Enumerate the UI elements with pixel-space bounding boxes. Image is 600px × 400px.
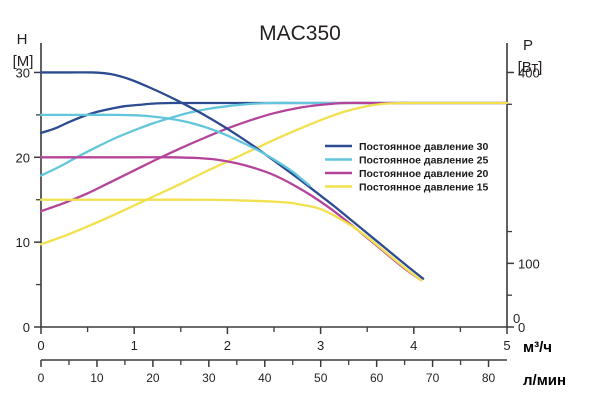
x-tick-label-secondary: 70 — [426, 371, 440, 385]
legend-label-3: Постоянное давление 15 — [359, 182, 489, 194]
y-tick-label-right: 400 — [518, 65, 540, 80]
curve-power-4 — [41, 103, 507, 133]
chart-root: MAC350 H [М] P [Вт] 01020300100400012345… — [0, 0, 600, 400]
legend-label-1: Постоянное давление 25 — [359, 155, 489, 167]
x-tick-label-primary: 2 — [224, 338, 231, 353]
x-tick-label-primary: 3 — [317, 338, 324, 353]
legend-label-2: Постоянное давление 20 — [359, 168, 489, 180]
y-tick-label-left: 30 — [16, 65, 30, 80]
x-tick-label-secondary: 50 — [314, 371, 328, 385]
x-axis-label-primary: м³/ч — [523, 339, 552, 356]
x-tick-label-primary: 0 — [37, 338, 44, 353]
chart-title: MAC350 — [259, 22, 341, 45]
curve-head-3 — [41, 200, 421, 281]
x-tick-label-secondary: 60 — [370, 371, 384, 385]
y-tick-label-right: 100 — [518, 256, 540, 271]
x-tick-label-secondary: 30 — [202, 371, 216, 385]
y-tick-label-left: 10 — [16, 235, 30, 250]
x-tick-label-secondary: 20 — [146, 371, 160, 385]
y-axis-label-power: P — [523, 37, 533, 54]
x-axis-label-secondary: л/мин — [523, 372, 566, 389]
x-tick-label-primary: 5 — [503, 338, 510, 353]
y-axis-label-head: H — [17, 31, 28, 48]
chart-legend: Постоянное давление 30Постоянное давлени… — [325, 141, 489, 194]
y-tick-label-left: 20 — [16, 150, 30, 165]
axis-ticks — [34, 72, 514, 367]
x-tick-label-secondary: 80 — [482, 371, 496, 385]
x-tick-label-secondary: 10 — [90, 371, 104, 385]
x-tick-label-primary: 1 — [131, 338, 138, 353]
legend-label-0: Постоянное давление 30 — [359, 141, 489, 153]
x-tick-label-secondary: 0 — [38, 371, 45, 385]
x-axis-origin-label-right: 0 — [513, 311, 520, 326]
y-tick-label-left: 0 — [23, 320, 30, 335]
pump-performance-chart: MAC350 H [М] P [Вт] 01020300100400012345… — [0, 0, 600, 400]
x-tick-label-primary: 4 — [410, 338, 417, 353]
x-tick-label-secondary: 40 — [258, 371, 272, 385]
